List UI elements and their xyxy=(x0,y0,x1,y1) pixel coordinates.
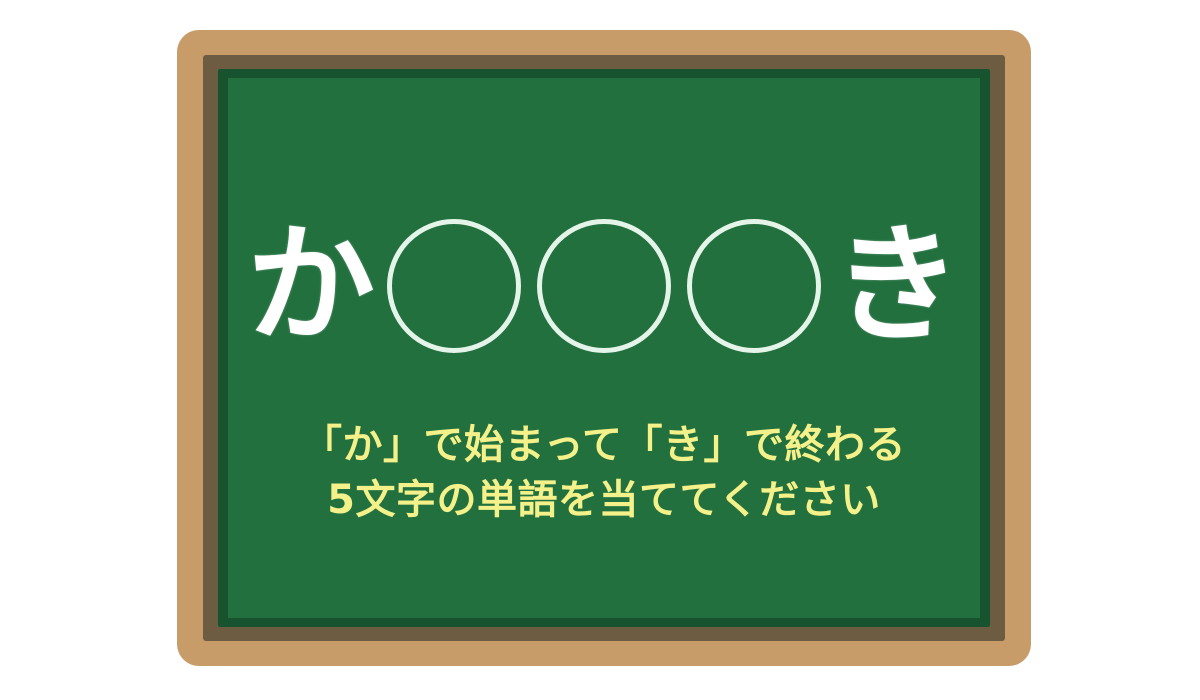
chalkboard-slate-edge: か ○ ○ ○ き xyxy=(218,69,990,627)
chalkboard-frame-inner-lip: か ○ ○ ○ き xyxy=(203,55,1005,641)
chalkboard-scene: か ○ ○ ○ き xyxy=(0,0,1200,700)
chalk-ledge-group xyxy=(324,606,554,618)
puzzle-slot-2-blank[interactable]: ○ xyxy=(383,215,525,357)
chalkboard-wooden-frame: か ○ ○ ○ き xyxy=(177,30,1031,666)
blank-circle-icon xyxy=(387,219,521,353)
blank-circle-icon xyxy=(537,219,671,353)
puzzle-hint-line-1: 「か」で始まって「き」で終わる xyxy=(228,418,980,473)
puzzle-slot-3-blank[interactable]: ○ xyxy=(533,215,675,357)
puzzle-slot-5-given-kana: き xyxy=(833,222,961,350)
puzzle-word-row: か ○ ○ ○ き xyxy=(228,212,980,360)
puzzle-slot-1-given-kana: か xyxy=(247,222,375,350)
puzzle-hint-line-2: 5文字の単語を当ててください xyxy=(228,473,980,528)
puzzle-hint-text: 「か」で始まって「き」で終わる 5文字の単語を当ててください xyxy=(228,418,980,528)
chalkboard-writing-surface: か ○ ○ ○ き xyxy=(228,78,980,618)
puzzle-slot-4-blank[interactable]: ○ xyxy=(683,215,825,357)
blank-circle-icon xyxy=(687,219,821,353)
